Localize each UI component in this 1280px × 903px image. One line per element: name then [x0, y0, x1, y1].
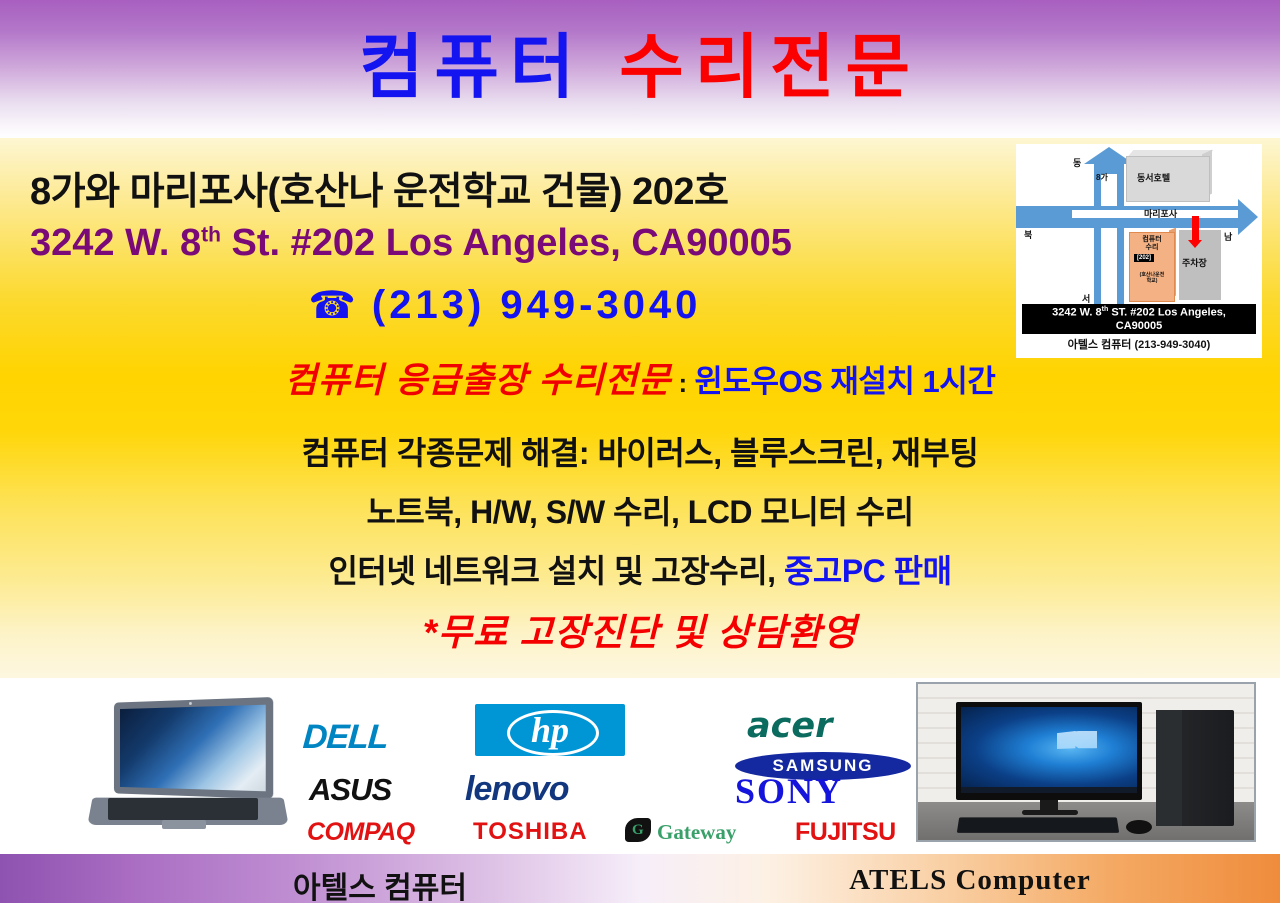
- desktop-monitor: [956, 702, 1142, 800]
- windows-logo-icon: [1057, 731, 1097, 767]
- desktop-pc-tower-front: [1156, 710, 1182, 826]
- emergency-blue-text: 윈도우OS 재설치 1시간: [694, 364, 995, 399]
- map-label-hotel: 동서호텔: [1137, 171, 1170, 184]
- desktop-taskbar: [961, 787, 1137, 793]
- service-line-1: 컴퓨터 각종문제 해결: 바이러스, 블루스크린, 재부팅: [0, 428, 1280, 474]
- address-english: 3242 W. 8th St. #202 Los Angeles, CA9000…: [30, 222, 1015, 265]
- map-address-line2: CA90005: [1116, 320, 1162, 332]
- gateway-logo-text: Gateway: [657, 820, 736, 844]
- map-label-street-8th: 8가: [1096, 172, 1108, 183]
- phone-number-line[interactable]: ☎(213) 949-3040: [0, 283, 1010, 328]
- desktop-monitor-screen: [961, 707, 1137, 787]
- acer-logo: acer: [747, 706, 832, 746]
- asus-logo: ASUS: [309, 772, 391, 808]
- phone-number: (213) 949-3040: [372, 283, 702, 327]
- map-location-marker-tip: [1188, 240, 1202, 248]
- desktop-computer-photo: [916, 682, 1256, 842]
- map-address-pre: 3242 W. 8: [1052, 307, 1102, 319]
- map-business-footer: 아텔스 컴퓨터 (213-949-3040): [1016, 336, 1262, 352]
- title-blue-text: 컴퓨터: [359, 28, 585, 106]
- gateway-logo: Gateway: [627, 820, 736, 845]
- brand-logo-grid: DELL hp acer SAMSUNG ASUS lenovo SONY CO…: [295, 700, 915, 848]
- laptop-keyboard: [108, 798, 258, 820]
- compaq-logo: COMPAQ: [307, 818, 415, 847]
- location-map[interactable]: 동 8가 동서호텔 마리포사 북 남 서 컴퓨터 수리 [202] (호산나운전…: [1016, 144, 1262, 358]
- address-english-pre: 3242 W. 8: [30, 222, 201, 264]
- map-address-bar: 3242 W. 8th ST. #202 Los Angeles,CA90005: [1022, 304, 1256, 334]
- laptop-touchpad: [162, 820, 206, 829]
- map-location-marker-icon: [1192, 216, 1199, 242]
- map-label-north: 북: [1024, 228, 1032, 241]
- map-label-mariposa: 마리포사: [1144, 207, 1177, 220]
- emergency-service-line: 컴퓨터 응급출장 수리전문 : 윈도우OS 재설치 1시간: [0, 352, 1280, 403]
- address-ordinal-suffix: th: [201, 223, 221, 246]
- laptop-photo: [78, 700, 288, 835]
- map-label-south: 남: [1224, 230, 1232, 243]
- emergency-red-text: 컴퓨터 응급출장 수리전문: [285, 361, 672, 400]
- address-english-post: St. #202 Los Angeles, CA90005: [221, 222, 792, 264]
- map-street-vertical-inner: [1101, 174, 1117, 310]
- map-label-school: (호산나운전 학교): [1132, 272, 1172, 284]
- desktop-keyboard: [957, 817, 1119, 833]
- hp-logo: hp: [475, 704, 625, 756]
- footer-banner: 아텔스 컴퓨터 ATELS Computer: [0, 854, 1280, 903]
- footer-brand-english: ATELS Computer: [760, 864, 1180, 897]
- service-line-3-highlight: 중고PC 판매: [784, 553, 952, 589]
- map-east-arrow-icon: [1238, 199, 1258, 235]
- map-label-east: 동: [1073, 156, 1081, 169]
- desktop-monitor-foot: [1022, 810, 1078, 815]
- laptop-lid: [114, 697, 273, 799]
- hp-logo-text: hp: [531, 709, 569, 751]
- service-line-3: 인터넷 네트워크 설치 및 고장수리, 중고PC 판매: [0, 546, 1280, 592]
- footer-brand-korean: 아텔스 컴퓨터: [180, 863, 580, 903]
- title-red-text: 수리전문: [619, 28, 921, 106]
- service-line-3-pre: 인터넷 네트워크 설치 및 고장수리,: [328, 553, 784, 589]
- free-diagnosis-line: *무료 고장진단 및 상담환영: [0, 602, 1280, 656]
- sony-logo: SONY: [735, 770, 843, 812]
- header-banner: 컴퓨터수리전문: [0, 0, 1280, 140]
- map-label-shop: 컴퓨터 수리: [1132, 236, 1172, 252]
- service-line-2: 노트북, H/W, S/W 수리, LCD 모니터 수리: [0, 487, 1280, 533]
- laptop-webcam-icon: [189, 702, 192, 705]
- toshiba-logo: TOSHIBA: [473, 818, 588, 846]
- map-label-suite: [202]: [1134, 254, 1154, 262]
- page-title: 컴퓨터수리전문: [0, 32, 1280, 102]
- laptop-screen: [120, 705, 266, 792]
- phone-icon: ☎: [309, 285, 360, 327]
- lenovo-logo: lenovo: [465, 770, 569, 809]
- desktop-mouse: [1126, 820, 1152, 834]
- dell-logo: DELL: [302, 718, 390, 757]
- map-address-post: ST. #202 Los Angeles,: [1108, 307, 1226, 319]
- map-label-parking: 주차장: [1182, 256, 1207, 269]
- fujitsu-logo: FUJITSU: [795, 818, 896, 847]
- address-korean: 8가와 마리포사(호산나 운전학교 건물) 202호: [30, 160, 990, 215]
- emergency-colon: :: [671, 368, 694, 398]
- flyer-root: 컴퓨터수리전문 8가와 마리포사(호산나 운전학교 건물) 202호 3242 …: [0, 0, 1280, 903]
